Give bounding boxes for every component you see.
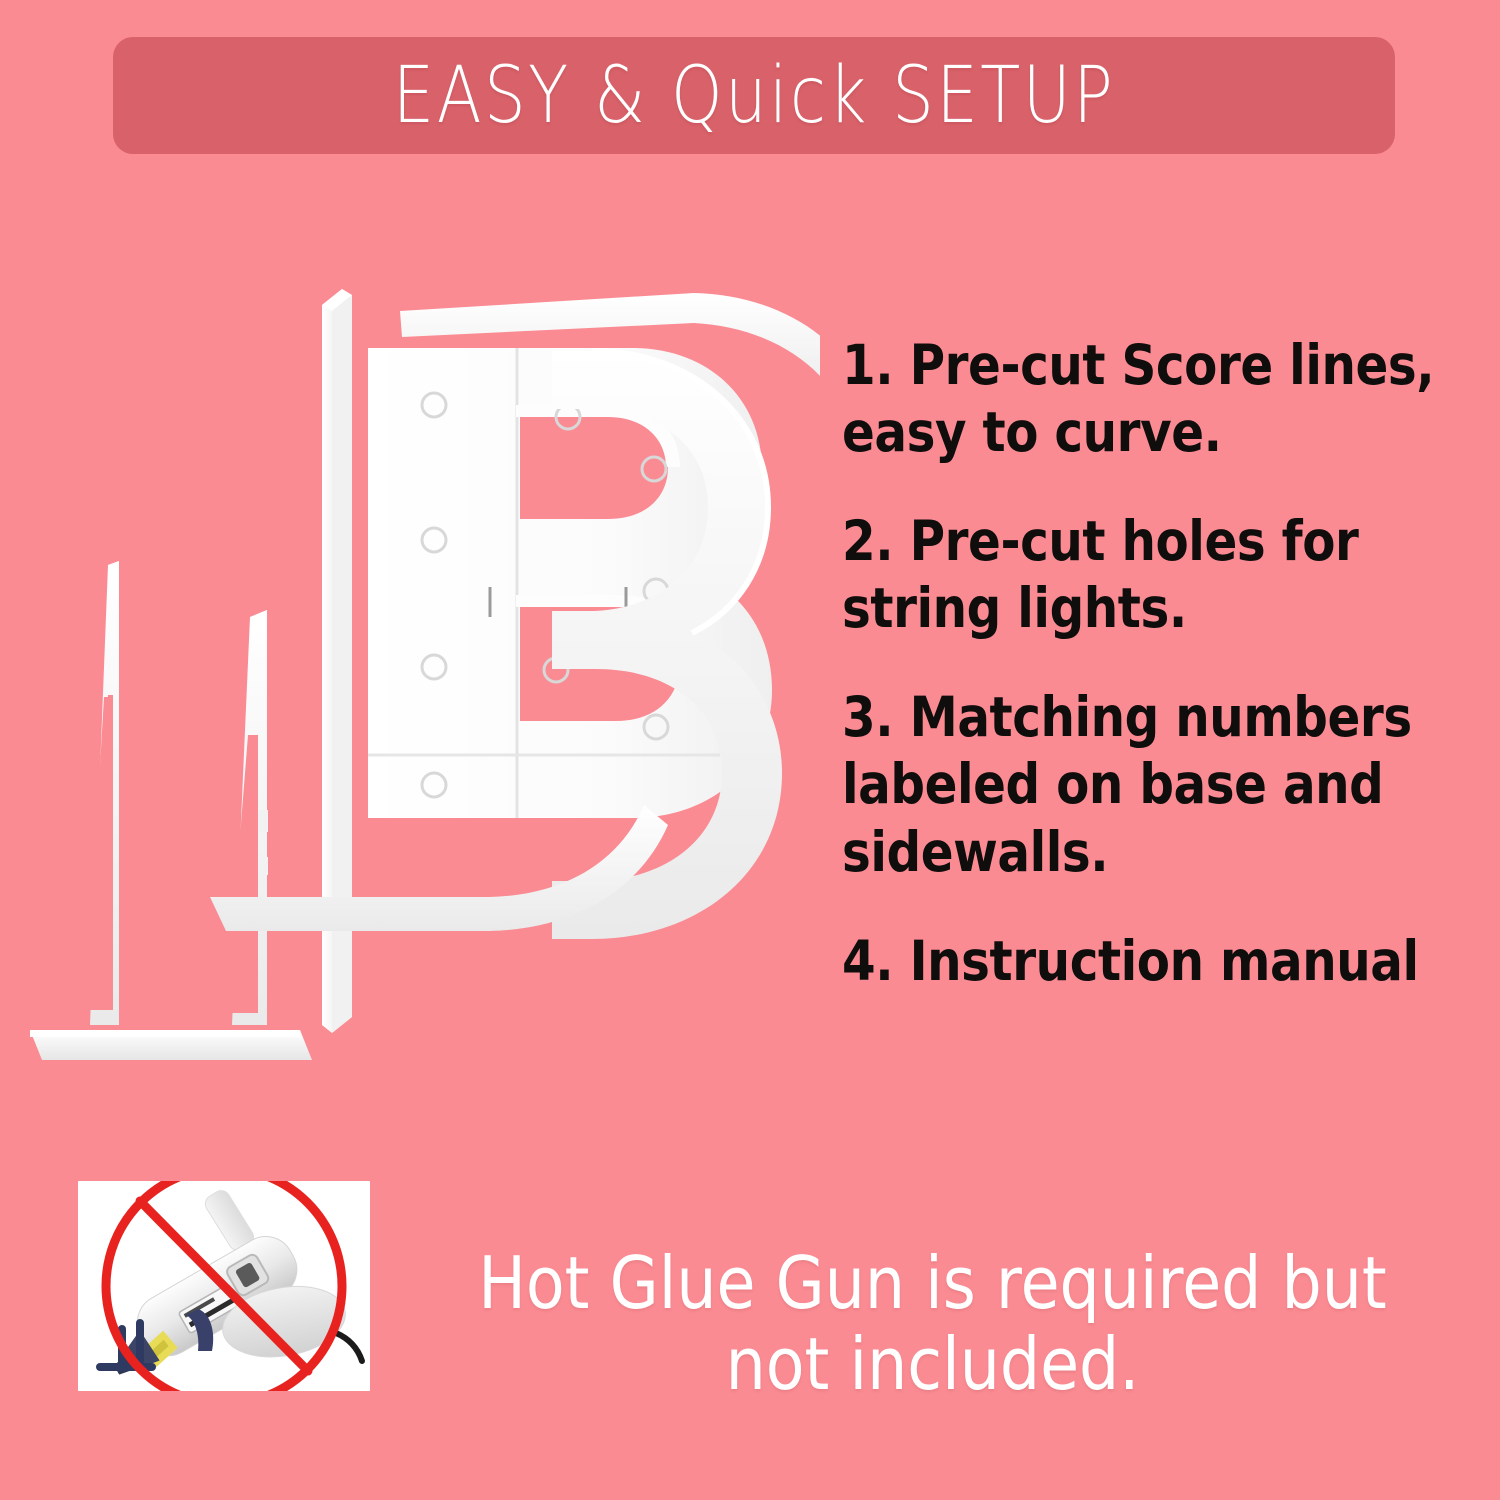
infographic-canvas: EASY & Quick SETUP (0, 0, 1500, 1500)
instruction-list: 1. Pre-cut Score lines, easy to curve. 2… (842, 332, 1482, 995)
header-banner: EASY & Quick SETUP (113, 37, 1395, 154)
sidewall-stand-assembly (30, 561, 312, 1060)
bottom-note: Hot Glue Gun is required but not include… (446, 1243, 1418, 1404)
bottom-note-line-1: Hot Glue Gun is required but (446, 1243, 1418, 1324)
instruction-item-4: 4. Instruction manual (842, 928, 1478, 995)
instruction-item-1: 1. Pre-cut Score lines, easy to curve. (842, 332, 1478, 466)
instruction-item-2: 2. Pre-cut holes for string lights. (842, 508, 1478, 642)
no-glue-gun-icon (78, 1181, 370, 1391)
page-title: EASY & Quick SETUP (393, 57, 1116, 135)
bottom-note-line-2: not included. (446, 1324, 1418, 1405)
instruction-item-3: 3. Matching numbers labeled on base and … (842, 684, 1478, 885)
product-photo-letter-b-kit (20, 265, 820, 1075)
